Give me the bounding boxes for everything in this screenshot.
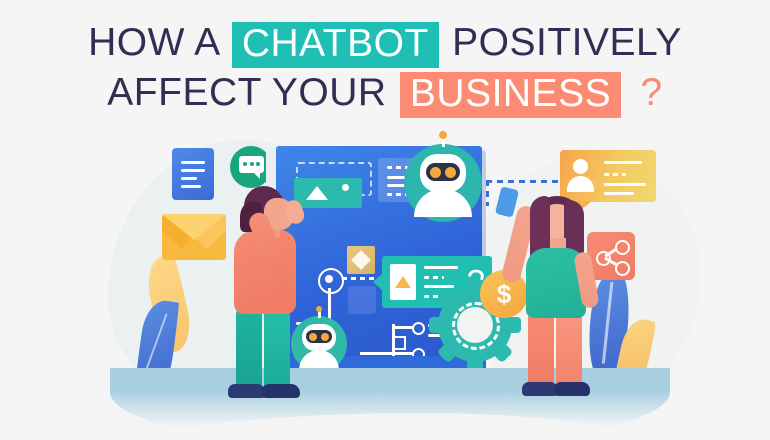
title-line-1: HOW A CHATBOT POSITIVELY — [0, 18, 770, 68]
page-title: HOW A CHATBOT POSITIVELY AFFECT YOUR BUS… — [0, 18, 770, 118]
phone-icon — [495, 186, 519, 218]
diamond-card-icon — [347, 246, 375, 274]
person-woman-right — [500, 190, 610, 398]
title-question-mark: ? — [640, 71, 662, 114]
title-line2-pre: AFFECT YOUR — [107, 71, 386, 114]
title-highlight-chatbot: CHATBOT — [232, 22, 439, 68]
person-man-left — [218, 186, 328, 398]
title-line1-post: POSITIVELY — [452, 21, 682, 64]
illustration-scene: ? — [0, 128, 770, 440]
title-line-2: AFFECT YOUR BUSINESS ? — [0, 68, 770, 118]
title-line1-pre: HOW A — [88, 21, 218, 64]
poster-canvas: HOW A CHATBOT POSITIVELY AFFECT YOUR BUS… — [0, 0, 770, 440]
title-highlight-business: BUSINESS — [400, 72, 621, 118]
dashed-connector-line — [486, 180, 560, 183]
dashed-connector-drop — [486, 180, 489, 206]
chatbot-robot-avatar — [404, 144, 482, 222]
placeholder-square — [348, 286, 376, 314]
envelope-icon — [162, 214, 226, 260]
document-icon — [172, 148, 214, 200]
